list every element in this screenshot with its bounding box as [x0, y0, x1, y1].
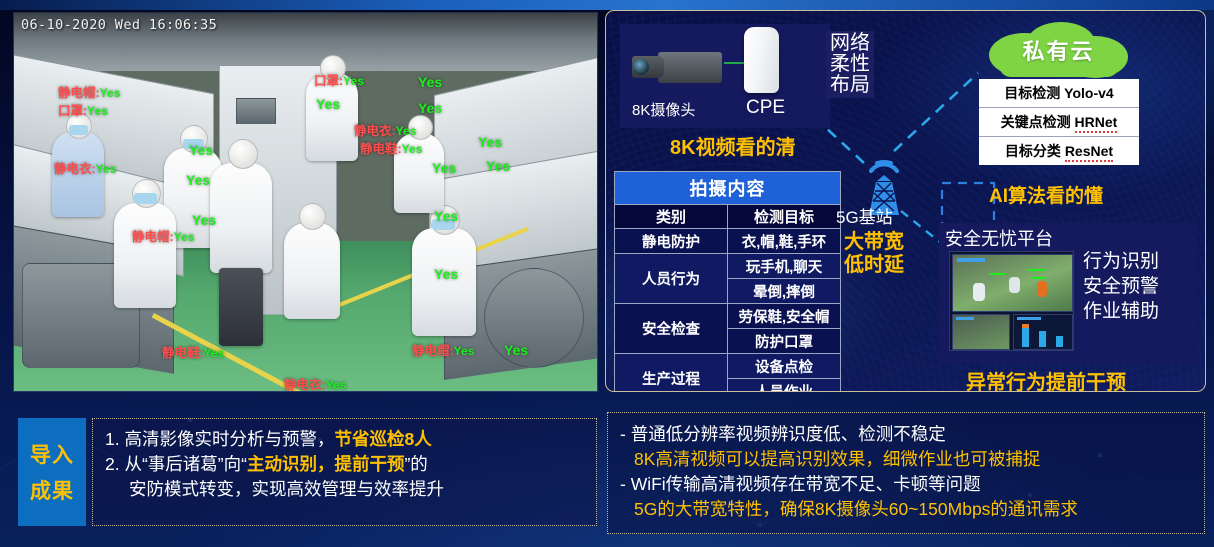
network-line-1: 网络 — [830, 33, 870, 54]
platform-dashboard[interactable] — [949, 251, 1074, 351]
detection-value: Yes — [434, 267, 458, 281]
dashboard-main-video — [952, 254, 1073, 312]
detection-label: 静电衣:Yes — [354, 125, 416, 138]
platform-features: 行为识别 安全预警 作业辅助 — [1083, 249, 1159, 324]
col-header-category: 类别 — [615, 205, 728, 229]
table-row: 安全检查 劳保鞋,安全帽 — [615, 304, 841, 329]
detection-content-table: 拍摄内容 类别 检测目标 静电防护 衣,帽,鞋,手环 人员行为 玩手机,聊天 晕… — [614, 171, 841, 392]
algorithm-prefix: 目标检测 — [1004, 85, 1064, 101]
platform-title: 安全无忧平台 — [945, 225, 1053, 251]
table-row: 人员行为 玩手机,聊天 — [615, 254, 841, 279]
benefit-bandwidth: 大带宽 — [844, 231, 904, 254]
detection-value: Yes — [396, 124, 417, 138]
worker-3-mask — [134, 193, 157, 204]
detection-value: Yes — [174, 230, 195, 244]
badge-line-1: 导入 — [30, 439, 74, 469]
results-panel: 1. 高清影像实时分析与预警，节省巡检8人 2. 从“事后诸葛”向“主动识别，提… — [92, 418, 597, 526]
camera-label: 8K摄像头 — [632, 99, 695, 120]
detection-tag: 静电衣: — [354, 124, 396, 138]
detection-value: Yes — [189, 143, 213, 157]
cell-target: 人员作业 — [728, 379, 841, 393]
result-item: 2. 从“事后诸葛”向“主动识别，提前干预”的 — [105, 452, 586, 477]
comparison-line: - 普通低分辨率视频辨识度低、检测不稳定 — [620, 422, 1194, 447]
5g-label: 5G基站 — [836, 203, 893, 228]
detection-value: Yes — [192, 213, 216, 227]
ai-caption: AI算法看的懂 — [989, 181, 1103, 208]
platform-feature: 安全预警 — [1083, 274, 1159, 299]
results-badge: 导入 成果 — [18, 418, 86, 526]
cell-category: 安全检查 — [615, 304, 728, 354]
cpe-label: CPE — [746, 97, 785, 119]
detection-tag: 静电衣: — [284, 378, 326, 391]
detection-label: 静电鞋:Yes — [162, 347, 224, 360]
dashboard-sub-video — [952, 314, 1010, 350]
detection-value: Yes — [100, 86, 121, 100]
algorithm-name: HRNet — [1075, 114, 1118, 133]
result-text-post: ”的 — [404, 454, 427, 474]
detection-value: Yes — [418, 101, 442, 115]
algorithm-row: 目标分类 ResNet — [979, 137, 1139, 165]
result-item: 安防模式转变，实现高效管理与效率提升 — [105, 477, 586, 502]
detection-label: 静电鞋:Yes — [360, 143, 422, 156]
cell-target: 防护口罩 — [728, 329, 841, 354]
detection-value: Yes — [504, 343, 528, 357]
5g-benefits: 大带宽 低时延 — [844, 231, 904, 277]
cpe-device-icon — [744, 27, 779, 93]
reel-right — [484, 268, 584, 368]
cell-target: 设备点检 — [728, 354, 841, 379]
col-header-target: 检测目标 — [728, 205, 841, 229]
detection-value: Yes — [454, 344, 475, 358]
worker-3 — [114, 203, 176, 308]
private-cloud: 私有云 — [981, 21, 1136, 79]
worker-4-walking — [210, 163, 272, 273]
result-highlight: 主动识别，提前干预 — [247, 454, 405, 474]
worker-6 — [284, 223, 340, 319]
network-flexibility-label: 网络 柔性 布局 — [826, 31, 874, 98]
algorithm-prefix: 关键点检测 — [1001, 114, 1075, 130]
machine-center-panel — [236, 98, 276, 124]
worker-7 — [412, 228, 476, 336]
surveillance-video[interactable]: 06-10-2020 Wed 16:06:35 静电帽:Yes 口罩:Yes 静… — [14, 13, 597, 391]
result-text: 从“事后诸葛”向“ — [124, 454, 246, 474]
cell-category: 人员行为 — [615, 254, 728, 304]
benefit-latency: 低时延 — [844, 254, 904, 277]
detection-value: Yes — [343, 74, 364, 88]
video-scene — [14, 13, 597, 391]
algorithm-row: 关键点检测 HRNet — [979, 108, 1139, 137]
detection-label: 口罩:Yes — [314, 75, 364, 88]
8k-camera-icon — [632, 49, 724, 85]
cloud-label: 私有云 — [981, 21, 1136, 79]
ai-algorithms-list: 目标检测 Yolo-v4 关键点检测 HRNet 目标分类 ResNet — [979, 79, 1139, 165]
worker-4-head — [228, 139, 258, 169]
worker-4-legs — [219, 268, 263, 346]
detection-tag: 口罩: — [58, 104, 87, 118]
detection-label: 静电帽:Yes — [58, 87, 120, 100]
detection-label: 静电衣:Yes — [284, 379, 346, 391]
platform-caption: 异常行为提前干预 — [966, 366, 1126, 392]
detection-label: 静电衣:Yes — [54, 163, 116, 176]
table-title: 拍摄内容 — [615, 172, 841, 205]
detection-label: 静电帽:Yes — [412, 345, 474, 358]
detection-tag: 静电衣: — [54, 162, 96, 176]
cell-target: 晕倒,摔倒 — [728, 279, 841, 304]
detection-value: Yes — [434, 209, 458, 223]
camera-caption: 8K视频看的清 — [670, 131, 796, 160]
video-timestamp: 06-10-2020 Wed 16:06:35 — [21, 17, 217, 33]
result-highlight: 节省巡检8人 — [334, 429, 431, 449]
comparison-line: 8K高清视频可以提高识别效果，细微作业也可被捕捉 — [620, 447, 1194, 472]
result-item: 1. 高清影像实时分析与预警，节省巡检8人 — [105, 427, 586, 452]
algorithm-prefix: 目标分类 — [1005, 143, 1065, 159]
detection-label: 静电帽:Yes — [132, 231, 194, 244]
table-header-row: 类别 检测目标 — [615, 205, 841, 229]
detection-tag: 静电鞋: — [162, 346, 204, 360]
detection-tag: 口罩: — [314, 74, 343, 88]
detection-value: Yes — [326, 378, 347, 391]
algorithm-name: ResNet — [1065, 143, 1113, 162]
detection-value: Yes — [432, 161, 456, 175]
detection-value: Yes — [316, 97, 340, 111]
comparison-line: - WiFi传输高清视频存在带宽不足、卡顿等问题 — [620, 472, 1194, 497]
dashboard-chart — [1013, 314, 1073, 350]
result-number: 1. — [105, 429, 120, 449]
platform-feature: 行为识别 — [1083, 249, 1159, 274]
detection-tag: 静电鞋: — [360, 142, 402, 156]
comparison-line: 5G的大带宽特性，确保8K摄像头60~150Mbps的通讯需求 — [620, 497, 1194, 522]
platform-feature: 作业辅助 — [1083, 299, 1159, 324]
algorithm-name: Yolo-v4 — [1064, 85, 1114, 101]
ethernet-cable — [724, 62, 746, 64]
cell-target: 劳保鞋,安全帽 — [728, 304, 841, 329]
worker-1-mask — [69, 125, 88, 135]
result-text: 安防模式转变，实现高效管理与效率提升 — [129, 479, 444, 499]
detection-value: Yes — [486, 159, 510, 173]
algorithm-row: 目标检测 Yolo-v4 — [979, 79, 1139, 108]
detection-value: Yes — [478, 135, 502, 149]
table-row: 静电防护 衣,帽,鞋,手环 — [615, 229, 841, 254]
table-row: 生产过程 设备点检 — [615, 354, 841, 379]
detection-tag: 静电帽: — [412, 344, 454, 358]
comparison-panel: - 普通低分辨率视频辨识度低、检测不稳定 8K高清视频可以提高识别效果，细微作业… — [607, 412, 1205, 534]
worker-6-head — [299, 203, 326, 230]
detection-value: Yes — [418, 75, 442, 89]
network-line-2: 柔性 — [830, 54, 870, 75]
result-number: 2. — [105, 454, 120, 474]
badge-line-2: 成果 — [30, 475, 74, 505]
cell-target: 衣,帽,鞋,手环 — [728, 229, 841, 254]
cell-category: 生产过程 — [615, 354, 728, 393]
cell-category: 静电防护 — [615, 229, 728, 254]
detection-value: Yes — [87, 104, 108, 118]
network-line-3: 布局 — [830, 75, 870, 96]
detection-label: 口罩:Yes — [58, 105, 108, 118]
architecture-panel: 8K摄像头 CPE 8K视频看的清 网络 柔性 布局 拍摄内容 类别 检测目标 … — [605, 10, 1206, 392]
detection-value: Yes — [96, 162, 117, 176]
cell-target: 玩手机,聊天 — [728, 254, 841, 279]
detection-value: Yes — [186, 173, 210, 187]
detection-tag: 静电帽: — [132, 230, 174, 244]
detection-tag: 静电帽: — [58, 86, 100, 100]
detection-value: Yes — [204, 346, 225, 360]
detection-value: Yes — [402, 142, 423, 156]
result-text: 高清影像实时分析与预警， — [124, 429, 334, 449]
table-title-row: 拍摄内容 — [615, 172, 841, 205]
